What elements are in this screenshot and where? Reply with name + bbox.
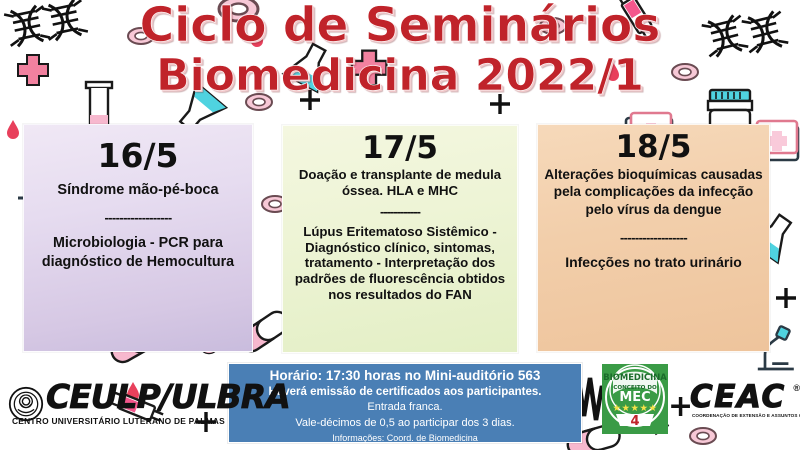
ceac-registered-mark: ®	[793, 383, 800, 393]
mec-badge-score: 4	[630, 414, 639, 429]
banner-line-bonus: Vale-décimos de 0,5 ao participar dos 3 …	[235, 416, 575, 432]
mec-badge-shield-icon: BIOMEDICINA CONCEITO DO MEC ★★★★★ 4	[602, 364, 668, 434]
card-topic-primary: Síndrome mão-pé-boca	[57, 182, 218, 200]
card-separator: ------------------	[620, 231, 687, 244]
mec-concept-badge: BIOMEDICINA CONCEITO DO MEC ★★★★★ 4	[602, 364, 668, 434]
ceulp-tagline: CENTRO UNIVERSITÁRIO LUTERANO DE PALMAS	[12, 416, 224, 426]
seminar-card-18-5: 18/5 Alterações bioquímicas causadas pel…	[537, 124, 770, 352]
card-date: 16/5	[98, 139, 179, 174]
card-separator: ------------	[380, 205, 420, 218]
seminar-card-17-5: 17/5 Doação e transplante de medula ósse…	[282, 125, 518, 353]
ceac-logo: CEAC ® COORDENAÇÃO DE EXTENSÃO E ASSUNTO…	[690, 382, 798, 428]
seminar-card-16-5: 16/5 Síndrome mão-pé-boca --------------…	[23, 124, 253, 352]
card-separator: ------------------	[104, 211, 171, 224]
card-topic-secondary: Infecções no trato urinário	[565, 254, 742, 272]
card-date: 17/5	[362, 132, 438, 165]
mec-badge-top-label: BIOMEDICINA	[603, 372, 667, 382]
mec-badge-stars: ★★★★★	[612, 403, 657, 414]
card-date: 18/5	[615, 131, 691, 164]
ceac-tagline: COORDENAÇÃO DE EXTENSÃO E ASSUNTOS COMUN…	[692, 413, 798, 418]
card-topic-secondary: Lúpus Eritematoso Sistêmico - Diagnóstic…	[289, 224, 511, 303]
banner-line-contact: Informações: Coord. de Biomedicina	[235, 432, 575, 446]
card-topic-primary: Doação e transplante de medula óssea. HL…	[289, 167, 511, 199]
ceulp-ulbra-logo: CEULP/ULBRA CENTRO UNIVERSITÁRIO LUTERAN…	[6, 380, 224, 436]
card-topic-secondary: Microbiologia - PCR para diagnóstico de …	[30, 234, 246, 271]
card-topic-primary: Alterações bioquímicas causadas pela com…	[544, 166, 763, 219]
poster-canvas: Ciclo de Seminários Biomedicina 2022/1 1…	[0, 0, 800, 450]
ceulp-wordmark: CEULP/ULBRA	[46, 380, 290, 415]
ceac-wordmark: CEAC	[690, 379, 786, 415]
